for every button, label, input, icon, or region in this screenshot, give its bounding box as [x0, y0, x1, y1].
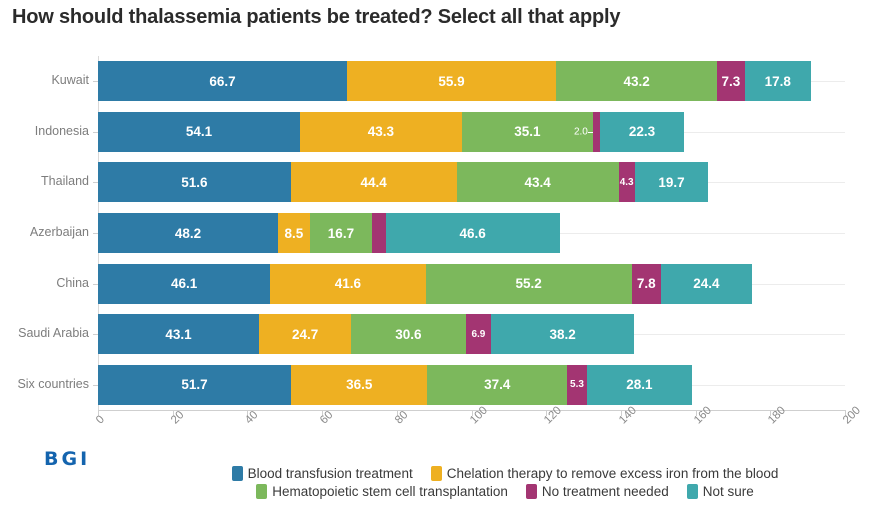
x-axis-tick-label: 40 — [243, 409, 261, 427]
bar-segment: 7.3 — [717, 61, 744, 101]
legend-row: Blood transfusion treatmentChelation the… — [140, 466, 870, 481]
legend: Blood transfusion treatmentChelation the… — [140, 466, 870, 502]
bar-segment: 8.5 — [278, 213, 310, 253]
bar-segment: 6.9 — [466, 314, 492, 354]
bar-segment: 24.7 — [259, 314, 351, 354]
bar-segment: 43.2 — [556, 61, 717, 101]
legend-swatch — [232, 466, 243, 481]
logo-letter-i: I — [80, 450, 88, 469]
bar-segment: 46.1 — [98, 264, 270, 304]
bar-segment: 41.6 — [270, 264, 425, 304]
legend-swatch — [687, 484, 698, 499]
bar-segment: 51.6 — [98, 162, 291, 202]
legend-label: Blood transfusion treatment — [248, 466, 413, 481]
legend-item[interactable]: Hematopoietic stem cell transplantation — [256, 484, 508, 499]
bar-segment: 46.6 — [386, 213, 560, 253]
y-axis-label: Thailand — [41, 174, 89, 188]
legend-label: Hematopoietic stem cell transplantation — [272, 484, 508, 499]
bar-segment: 48.2 — [98, 213, 278, 253]
bar-segment: 36.5 — [291, 365, 427, 405]
bar-segment: 17.8 — [745, 61, 811, 101]
legend-label: No treatment needed — [542, 484, 669, 499]
bar-segment: 51.7 — [98, 365, 291, 405]
logo-letter-b: B — [44, 450, 59, 469]
bar-segment: 19.7 — [635, 162, 709, 202]
bar-segment: 55.9 — [347, 61, 556, 101]
legend-swatch — [526, 484, 537, 499]
bar-segment: 7.8 — [632, 264, 661, 304]
bar-segment: 66.7 — [98, 61, 347, 101]
bar-segment: 37.4 — [427, 365, 567, 405]
bar-segment: 2.0 — [593, 112, 600, 152]
legend-label: Chelation therapy to remove excess iron … — [447, 466, 779, 481]
chart-title: How should thalassemia patients be treat… — [12, 6, 620, 29]
chart-root: How should thalassemia patients be treat… — [0, 0, 880, 512]
bar-segment: 43.3 — [300, 112, 462, 152]
y-axis-label: Saudi Arabia — [18, 326, 89, 340]
legend-row: Hematopoietic stem cell transplantationN… — [140, 484, 870, 499]
bar-segment: 3.6 — [372, 213, 385, 253]
y-axis-label: Kuwait — [51, 73, 89, 87]
plot-area: Kuwait66.755.943.27.317.8Indonesia54.143… — [98, 56, 845, 410]
bar-segment: 54.1 — [98, 112, 300, 152]
bar-segment: 5.3 — [567, 365, 587, 405]
bar-segment: 16.7 — [310, 213, 372, 253]
bar-segment: 43.1 — [98, 314, 259, 354]
x-axis-tick-label: 60 — [318, 409, 336, 427]
legend-item[interactable]: Not sure — [687, 484, 754, 499]
legend-label: Not sure — [703, 484, 754, 499]
y-axis-label: Indonesia — [35, 124, 89, 138]
legend-swatch — [431, 466, 442, 481]
logo-letter-g: G — [61, 450, 78, 469]
bgi-logo: B G I — [44, 450, 88, 469]
bar-segment: 4.3 — [619, 162, 635, 202]
y-axis-label: Azerbaijan — [30, 225, 89, 239]
y-axis-label: China — [56, 276, 89, 290]
bar-segment: 55.2 — [426, 264, 632, 304]
y-axis-label: Six countries — [17, 377, 89, 391]
bar-segment: 38.2 — [491, 314, 634, 354]
bar-segment: 30.6 — [351, 314, 465, 354]
bar-segment: 28.1 — [587, 365, 692, 405]
bar-segment: 24.4 — [661, 264, 752, 304]
bar-segment: 43.4 — [457, 162, 619, 202]
bar-segment: 22.3 — [600, 112, 683, 152]
x-axis-tick-label: 80 — [393, 409, 411, 427]
legend-item[interactable]: Blood transfusion treatment — [232, 466, 413, 481]
x-axis-tick-label: 0 — [94, 413, 107, 426]
legend-swatch — [256, 484, 267, 499]
x-axis-tick-label: 20 — [169, 409, 187, 427]
legend-item[interactable]: Chelation therapy to remove excess iron … — [431, 466, 779, 481]
legend-item[interactable]: No treatment needed — [526, 484, 669, 499]
bar-value-label: 2.0 — [574, 126, 593, 137]
bar-segment: 44.4 — [291, 162, 457, 202]
